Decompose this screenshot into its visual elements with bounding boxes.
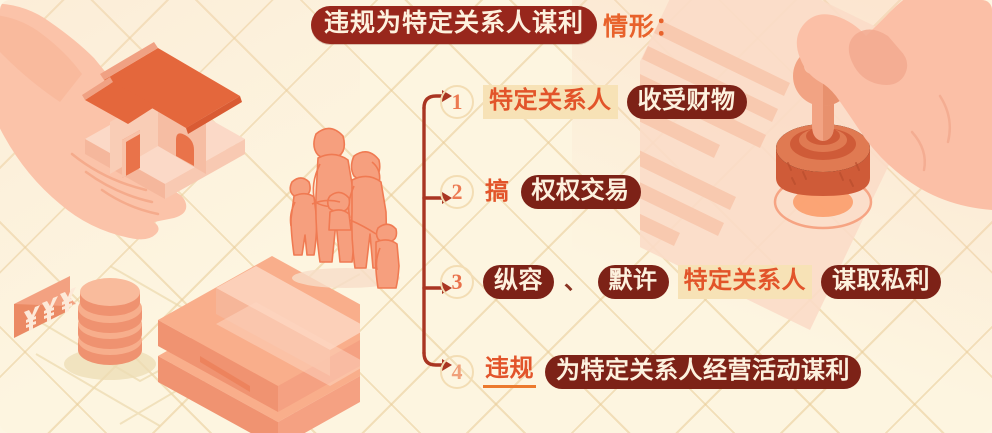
clause-segment-pill: 纵容: [483, 265, 554, 299]
page-title: 违规为特定关系人谋利 情形：: [0, 6, 992, 44]
clause-segment-pill: 为特定关系人经营活动谋利: [545, 355, 861, 389]
clause-segment-highlight: 特定关系人: [483, 85, 618, 118]
currency-sign: [14, 276, 76, 338]
figure-child-right: [376, 224, 399, 288]
list-number: 1: [440, 85, 474, 119]
family-group-illustration: [268, 112, 414, 290]
clause-segment-highlight: 特定关系人: [678, 265, 813, 298]
clause-segment-underline: 违规: [483, 356, 536, 387]
infographic-canvas: 违规为特定关系人谋利 情形： 1 特定关系人 收受财物 2 搞 权权交易: [0, 0, 992, 433]
list-number: 4: [440, 355, 474, 389]
coin-stack: [78, 278, 142, 365]
clause-segment-pill: 默许: [598, 265, 669, 299]
clause-segment-separator: 、: [563, 269, 589, 294]
list-number: 3: [440, 265, 474, 299]
clause-segment-plain: 搞: [483, 179, 512, 205]
title-badge: 违规为特定关系人谋利: [311, 6, 597, 44]
list-item: 1 特定关系人 收受财物: [440, 80, 747, 124]
list-item: 3 纵容 、 默许 特定关系人 谋取私利: [440, 260, 941, 304]
list-item: 2 搞 权权交易: [440, 170, 641, 214]
list-item: 4 违规 为特定关系人经营活动谋利: [440, 350, 861, 394]
brace-connector: [418, 88, 452, 373]
arrow-heads: [442, 90, 452, 371]
clause-segment-pill: 权权交易: [521, 175, 641, 209]
list-number: 2: [440, 175, 474, 209]
clause-segment-pill: 谋取私利: [821, 265, 941, 299]
clause-segment-pill: 收受财物: [627, 85, 747, 119]
title-suffix: 情形：: [603, 7, 681, 43]
